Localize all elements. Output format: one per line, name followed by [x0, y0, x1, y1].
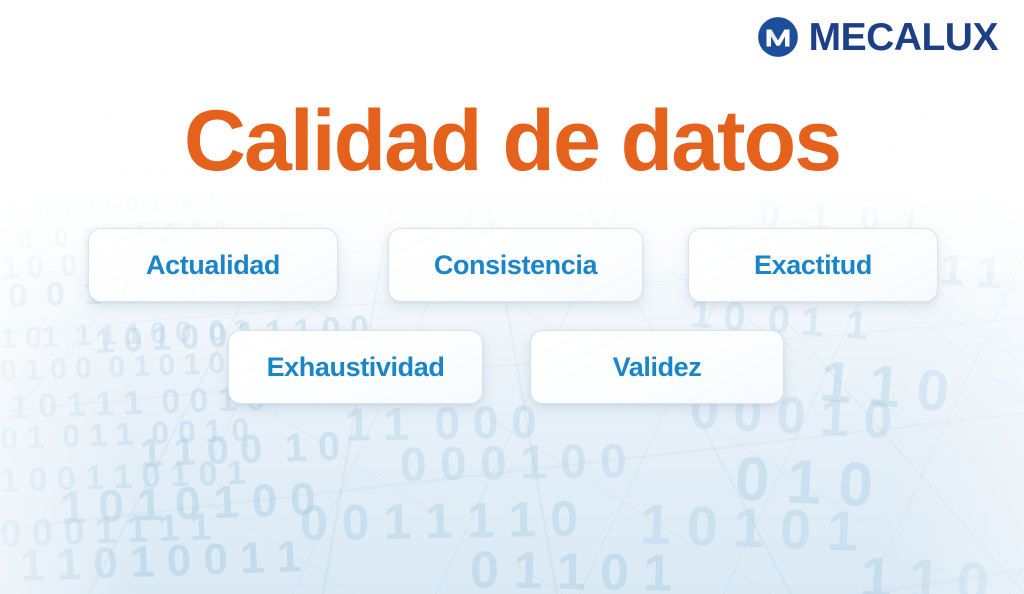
slide-root: 1 01 0 01 0 1 0 10 0 1 0 1 0 1 01 0 0 1 … [0, 0, 1024, 594]
card-label: Actualidad [146, 250, 280, 281]
card-label: Exhaustividad [267, 352, 445, 383]
mecalux-m-circle-icon [757, 16, 799, 58]
card-label: Validez [613, 352, 702, 383]
card-exactitud[interactable]: Exactitud [688, 228, 938, 302]
card-label: Exactitud [754, 250, 872, 281]
card-actualidad[interactable]: Actualidad [88, 228, 338, 302]
card-validez[interactable]: Validez [530, 330, 784, 404]
card-label: Consistencia [434, 250, 597, 281]
card-exhaustividad[interactable]: Exhaustividad [228, 330, 483, 404]
page-title: Calidad de datos [0, 98, 1024, 184]
card-consistencia[interactable]: Consistencia [388, 228, 643, 302]
quality-dimension-cards: Actualidad Consistencia Exactitud Exhaus… [0, 0, 1024, 594]
mecalux-logo: MECALUX [757, 16, 998, 58]
mecalux-wordmark: MECALUX [809, 18, 998, 57]
